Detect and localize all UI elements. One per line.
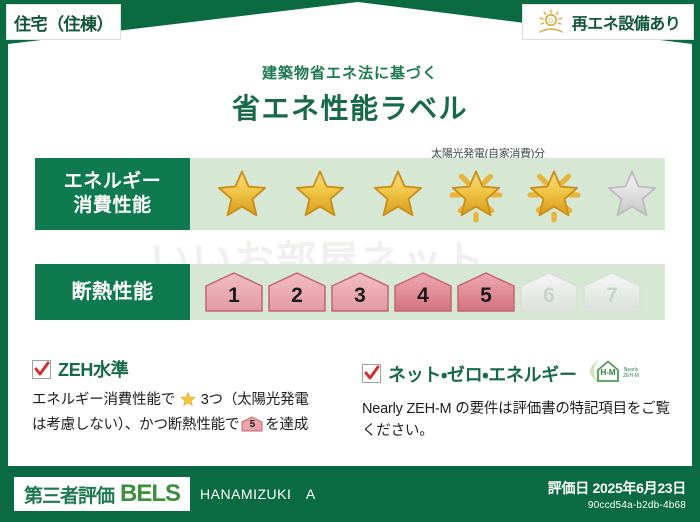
insulation-badge-number: 4 (417, 284, 429, 313)
insulation-badge-active: 4 (393, 271, 453, 313)
insulation-badge-active: 5 (456, 271, 516, 313)
renewable-equipment-chip: D 再エネ設備あり (522, 4, 694, 40)
zeh-standard-block: ZEH水準 エネルギー消費性能で 3つ（太陽光発電 は考慮しない）、かつ断熱性能… (32, 356, 332, 437)
zeh-standard-heading: ZEH水準 (32, 356, 332, 382)
insulation-level-scale: 1 2 3 4 5 (204, 271, 642, 313)
zeh-desc-part2: は考慮しない）、かつ断熱性能で (32, 417, 239, 433)
energy-performance-label: エネルギー 消費性能 (35, 158, 190, 230)
energy-stars-area (190, 158, 670, 230)
star-filled (360, 158, 436, 230)
zeh-desc-part1: エネルギー消費性能で (32, 392, 175, 408)
insulation-badge-number: 6 (543, 284, 555, 313)
checkmark-icon (32, 360, 51, 379)
building-type-chip: 住宅（住棟） (6, 4, 121, 40)
star-filled (282, 158, 358, 230)
star-filled (516, 158, 592, 230)
zeh-desc-starcount: 3つ（太陽光発電 (201, 392, 309, 408)
title-block: 建築物省エネ法に基づく 省エネ性能ラベル (0, 62, 700, 127)
net-zero-description: Nearly ZEH-M の要件は評価書の特記項目をご覧ください。 (362, 398, 672, 443)
star-rating (204, 158, 670, 230)
footer-bar: 第三者評価 BELS HANAMIZUKI A 評価日 2025年6月23日 9… (0, 466, 700, 522)
zeh-standard-description: エネルギー消費性能で 3つ（太陽光発電 は考慮しない）、かつ断熱性能で 5 を達… (32, 389, 332, 437)
insulation-badge-number: 3 (354, 284, 366, 313)
star-empty (594, 158, 670, 230)
bels-en-label: BELS (120, 480, 180, 508)
inline-star-icon (176, 395, 200, 411)
inline-insulation-badge: 5 (241, 416, 263, 432)
star-filled (438, 158, 514, 230)
insulation-badge-number: 1 (228, 284, 240, 313)
label-subtitle: 建築物省エネ法に基づく (0, 62, 700, 83)
energy-label-line2: 消費性能 (73, 194, 151, 218)
zeh-m-logo-text: H-M (600, 368, 615, 377)
svg-text:ZEH-M: ZEH-M (623, 373, 639, 379)
page-title: 省エネ性能ラベル (0, 87, 700, 127)
inline-badge-value: 5 (241, 417, 263, 433)
insulation-badge-inactive: 7 (582, 271, 642, 313)
evaluation-date: 評価日 2025年6月23日 (548, 478, 686, 498)
star-filled (204, 158, 280, 230)
evaluation-info: 評価日 2025年6月23日 90ccd54a-b2db-4b68 (548, 478, 686, 511)
insulation-badge-active: 2 (267, 271, 327, 313)
insulation-label-text: 断熱性能 (72, 280, 154, 305)
bels-energy-label-card: 住宅（住棟） D 再エネ設備あり 建築物省エネ法に基づく (0, 0, 700, 522)
zeh-standard-title: ZEH水準 (58, 356, 129, 382)
svg-text:D: D (549, 19, 554, 25)
sun-renewable-icon: D (536, 9, 566, 35)
building-type-label: 住宅（住棟） (14, 10, 113, 35)
property-name: HANAMIZUKI A (200, 484, 316, 504)
insulation-performance-row: 断熱性能 1 2 3 (35, 264, 665, 320)
energy-label-line1: エネルギー (64, 170, 162, 194)
insulation-badge-inactive: 6 (519, 271, 579, 313)
insulation-badge-number: 2 (291, 284, 303, 313)
insulation-badge-number: 5 (480, 284, 492, 313)
bels-jp-label: 第三者評価 (24, 481, 114, 508)
evaluation-id: 90ccd54a-b2db-4b68 (548, 500, 686, 511)
checkmark-icon (362, 364, 381, 383)
insulation-badge-number: 7 (606, 284, 618, 313)
bels-certification-badge: 第三者評価 BELS (14, 477, 190, 511)
energy-performance-row: エネルギー 消費性能 (35, 158, 665, 230)
net-zero-energy-block: ネット・ゼロ・エネルギー H-M Nearly ZEH-M Nearly ZEH… (362, 356, 672, 443)
insulation-badge-active: 3 (330, 271, 390, 313)
net-zero-title: ネット・ゼロ・エネルギー (388, 361, 577, 387)
insulation-performance-label: 断熱性能 (35, 264, 190, 320)
net-zero-heading: ネット・ゼロ・エネルギー H-M Nearly ZEH-M (362, 356, 672, 391)
renewable-equipment-label: 再エネ設備あり (572, 10, 681, 34)
zeh-desc-part3: を達成 (265, 417, 308, 433)
insulation-levels-area: 1 2 3 4 5 (190, 264, 665, 320)
insulation-badge-active: 1 (204, 271, 264, 313)
zeh-m-logo-icon: H-M Nearly ZEH-M (586, 356, 644, 391)
